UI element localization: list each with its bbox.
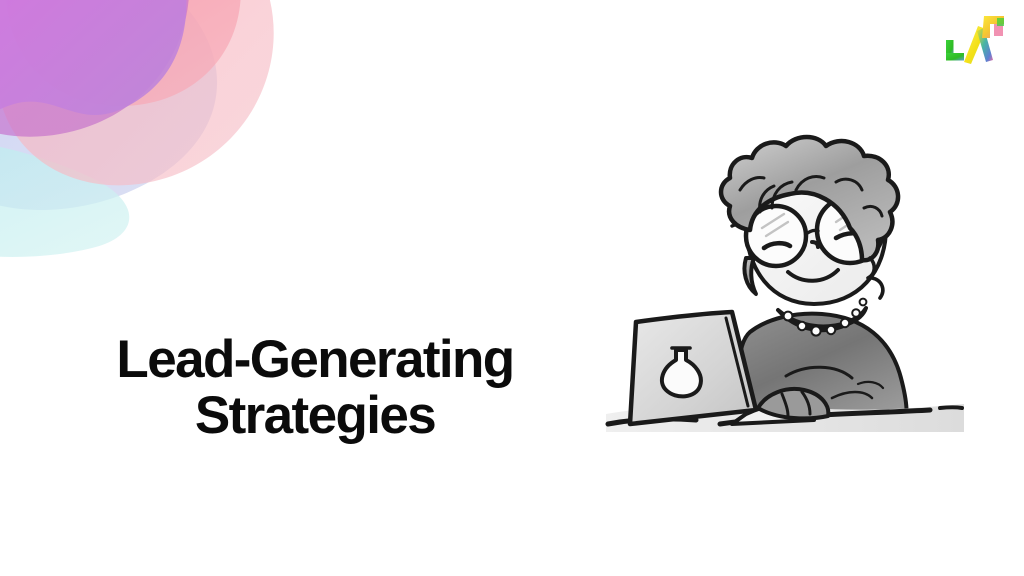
logo-letter-l	[946, 40, 964, 61]
periwinkle-blob	[0, 0, 217, 210]
salmon-blob	[6, 0, 241, 106]
magenta-blob	[0, 0, 189, 137]
headline-line-1: Lead-Generating	[60, 332, 570, 388]
rose-blob	[0, 0, 274, 185]
desk-line	[940, 407, 962, 408]
cyan-blob	[0, 137, 129, 257]
person-at-laptop-illustration	[600, 132, 970, 442]
headline-line-2: Strategies	[60, 388, 570, 444]
logo-stroke-top-bar	[982, 16, 1004, 38]
slide-canvas: Lead-Generating Strategies	[0, 0, 1024, 576]
lv-brand-logo[interactable]	[944, 14, 1006, 66]
slide-headline: Lead-Generating Strategies	[60, 332, 570, 444]
gradient-blob-cluster	[0, 0, 330, 310]
violet-blob	[0, 0, 187, 162]
